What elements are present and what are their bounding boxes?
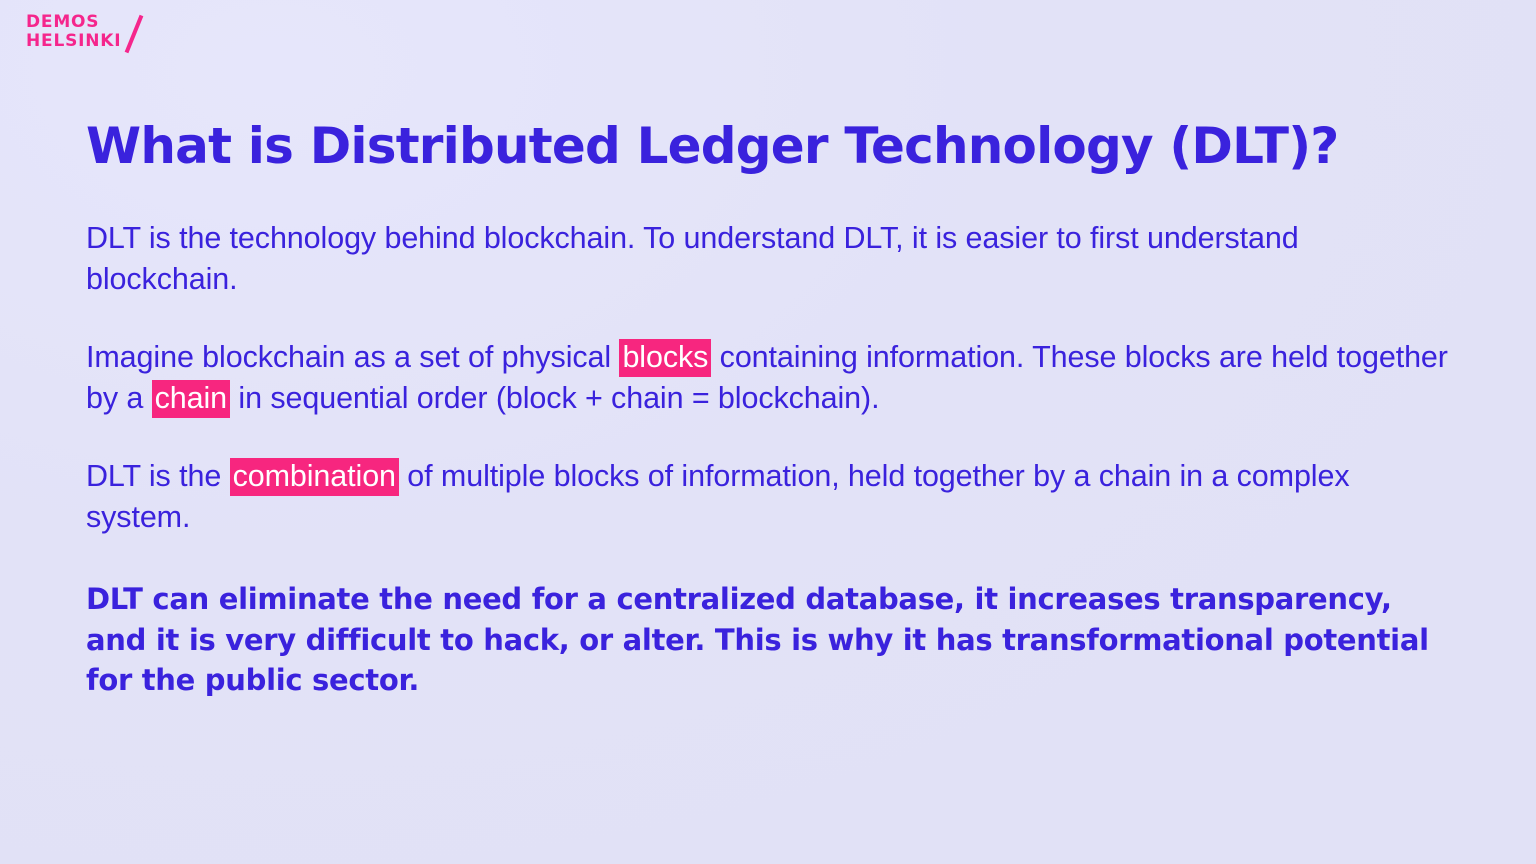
logo-line-helsinki: HELSINKI [26,33,121,50]
slide-content: What is Distributed Ledger Technology (D… [86,118,1468,701]
highlight-chain: chain [152,380,230,418]
logo-wordmark: DEMOS HELSINKI [26,14,121,50]
paragraph-conclusion: DLT can eliminate the need for a central… [86,579,1454,701]
text-segment: DLT can eliminate the need for a central… [86,582,1429,697]
paragraph-definition: DLT is the combination of multiple block… [86,456,1454,537]
logo-line-demos: DEMOS [26,14,121,31]
text-segment: DLT is the [86,459,230,493]
text-segment: Imagine blockchain as a set of physical [86,340,619,374]
paragraph-analogy: Imagine blockchain as a set of physical … [86,337,1454,418]
slide-canvas: DEMOS HELSINKI What is Distributed Ledge… [0,0,1536,864]
slash-icon [123,14,149,52]
text-segment: DLT is the technology behind blockchain.… [86,221,1299,296]
demos-helsinki-logo: DEMOS HELSINKI [26,14,149,52]
paragraph-intro: DLT is the technology behind blockchain.… [86,218,1454,299]
highlight-combination: combination [230,458,399,496]
page-title: What is Distributed Ledger Technology (D… [86,118,1468,174]
text-segment: in sequential order (block + chain = blo… [230,381,879,415]
highlight-blocks: blocks [619,339,711,377]
